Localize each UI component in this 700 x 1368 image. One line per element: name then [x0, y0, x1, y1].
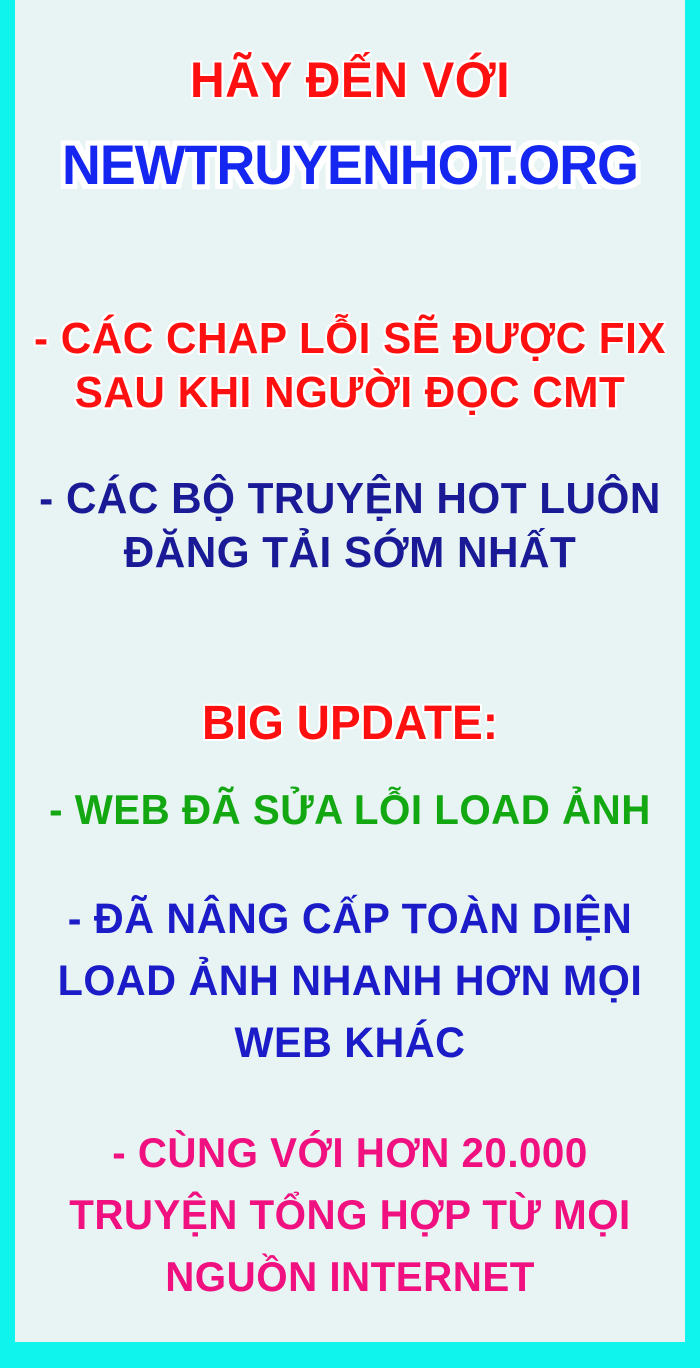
update-story-count: - CÙNG VỚI HƠN 20.000 TRUYỆN TỔNG HỢP TỪ… — [15, 1122, 685, 1308]
update-speed-line-3: WEB KHÁC — [28, 1012, 671, 1074]
site-name-text[interactable]: NEWTRUYENHOT.ORG — [28, 132, 671, 198]
note-chapter-fix: - CÁC CHAP LỖI SẼ ĐƯỢC FIX SAU KHI NGƯỜI… — [15, 312, 685, 420]
note-chapter-fix-line-2: SAU KHI NGƯỜI ĐỌC CMT — [28, 366, 671, 420]
big-update-heading: BIG UPDATE: — [15, 695, 685, 753]
update-speed-line-1: - ĐÃ NÂNG CẤP TOÀN DIỆN — [28, 888, 671, 950]
update-speed-line-2: LOAD ẢNH NHANH HƠN MỌI — [28, 950, 671, 1012]
big-update-heading-text: BIG UPDATE: — [28, 695, 671, 753]
update-image-fix: - WEB ĐÃ SỬA LỖI LOAD ẢNH — [15, 783, 685, 837]
promo-banner: HÃY ĐẾN VỚI NEWTRUYENHOT.ORG - CÁC CHAP … — [0, 0, 700, 1368]
note-chapter-fix-line-1: - CÁC CHAP LỖI SẼ ĐƯỢC FIX — [28, 312, 671, 366]
site-name[interactable]: NEWTRUYENHOT.ORG — [15, 132, 685, 198]
update-speed: - ĐÃ NÂNG CẤP TOÀN DIỆN LOAD ẢNH NHANH H… — [15, 888, 685, 1074]
note-hot-series: - CÁC BỘ TRUYỆN HOT LUÔN ĐĂNG TẢI SỚM NH… — [15, 472, 685, 580]
note-hot-series-line-2: ĐĂNG TẢI SỚM NHẤT — [28, 526, 671, 580]
update-image-fix-text: - WEB ĐÃ SỬA LỖI LOAD ẢNH — [28, 783, 671, 837]
update-story-count-line-3: NGUỒN INTERNET — [28, 1246, 671, 1308]
note-hot-series-line-1: - CÁC BỘ TRUYỆN HOT LUÔN — [28, 472, 671, 526]
update-story-count-line-2: TRUYỆN TỔNG HỢP TỪ MỌI — [28, 1184, 671, 1246]
header-invitation: HÃY ĐẾN VỚI — [15, 52, 685, 108]
header-invitation-text: HÃY ĐẾN VỚI — [28, 52, 671, 108]
banner-panel: HÃY ĐẾN VỚI NEWTRUYENHOT.ORG - CÁC CHAP … — [15, 0, 685, 1342]
update-story-count-line-1: - CÙNG VỚI HƠN 20.000 — [28, 1122, 671, 1184]
